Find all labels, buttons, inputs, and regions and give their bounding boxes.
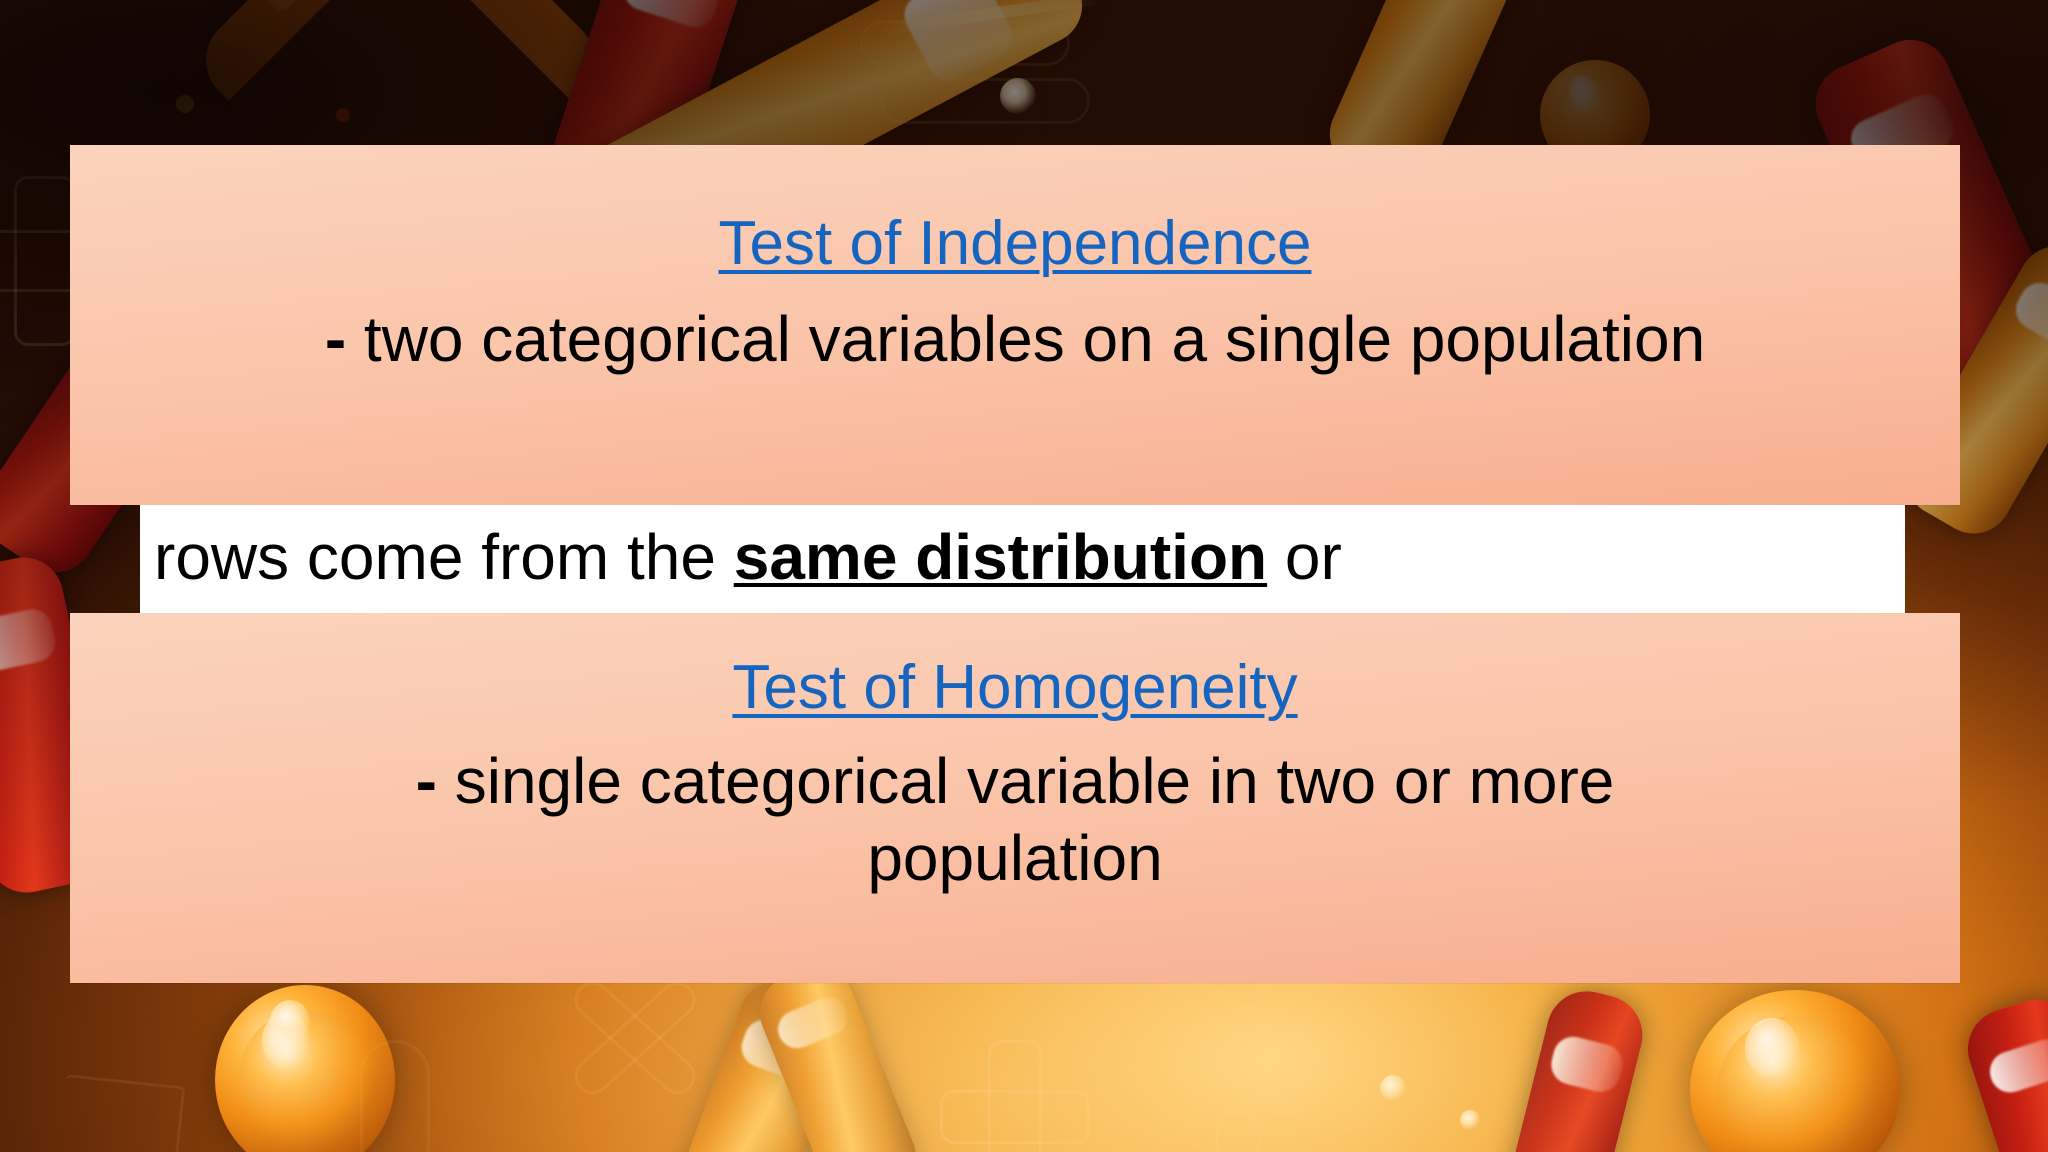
homogeneity-description-text: single categorical variable in two or mo… [437, 745, 1614, 817]
independence-description-text: two categorical variables on a single po… [346, 303, 1705, 375]
homogeneity-heading[interactable]: Test of Homogeneity [70, 651, 1960, 725]
same-distribution-line: rows come from the same distribution or [140, 521, 1905, 594]
independence-heading[interactable]: Test of Independence [70, 207, 1960, 281]
independence-dash: - [325, 303, 346, 375]
slide-content: Test of Independence - two categorical v… [0, 0, 2048, 1152]
independence-description: - two categorical variables on a single … [70, 303, 1960, 376]
homogeneity-box: Test of Homogeneity - single categorical… [70, 613, 1960, 983]
same-distribution-prefix: rows come from the [154, 521, 734, 593]
same-distribution-emphasis: same distribution [734, 521, 1267, 593]
homogeneity-description: - single categorical variable in two or … [70, 745, 1960, 818]
same-distribution-box: rows come from the same distribution or [140, 505, 1905, 613]
homogeneity-description-line2: population [70, 822, 1960, 895]
same-distribution-suffix: or [1267, 521, 1342, 593]
independence-box: Test of Independence - two categorical v… [70, 145, 1960, 505]
homogeneity-dash: - [416, 745, 437, 817]
